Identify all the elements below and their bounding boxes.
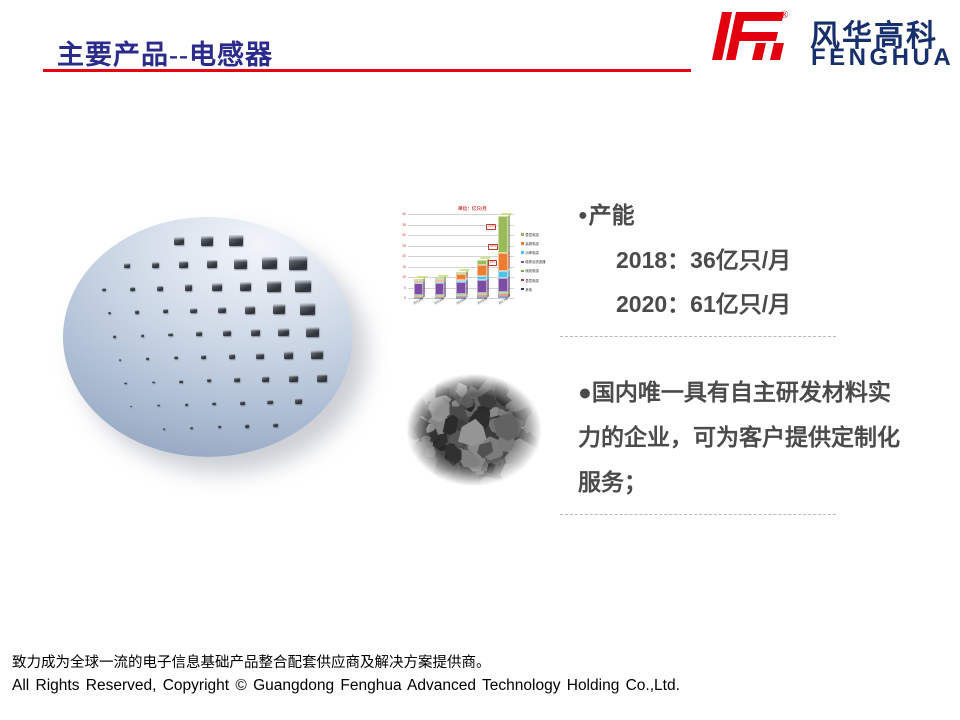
- chart-legend-swatch: [521, 270, 524, 273]
- chip-inductor: [284, 351, 294, 359]
- chip-inductor: [163, 309, 169, 313]
- chip-inductor: [130, 287, 135, 291]
- chart-bar-segment: [498, 253, 508, 270]
- sem-disc: [404, 372, 544, 488]
- chip-inductor: [157, 404, 160, 406]
- chart-legend-swatch: [521, 288, 524, 291]
- chart-bar-segment-side: [508, 251, 510, 270]
- chart-bar-segment: [456, 272, 466, 275]
- chart-bar-segment: [456, 282, 466, 294]
- chart-legend: 叠层电感高频电感功率电感磁珠及滤波器绕线电感叠层电感其他: [521, 230, 567, 294]
- chart-y-tick-label: 30: [398, 233, 406, 237]
- chart-y-tick-label: 35: [398, 223, 406, 227]
- chart-bar-segment-side: [508, 276, 510, 292]
- bullet-dot-icon: ●: [578, 207, 588, 224]
- chart-bar-segment: [456, 274, 466, 279]
- footer-copyright-english: All Rights Reserved, Copyright © Guangdo…: [12, 674, 942, 697]
- chip-inductor: [240, 401, 245, 405]
- chart-legend-swatch: [521, 242, 524, 245]
- divider-bottom: [560, 514, 836, 515]
- chart-bar-segment-side: [508, 214, 510, 254]
- chart-bar-top-cap: [416, 276, 428, 278]
- chip-inductor: [163, 428, 166, 430]
- chip-inductor: [135, 310, 139, 313]
- chip-inductor: [300, 303, 315, 314]
- chip-inductor: [152, 262, 159, 268]
- registered-trademark-icon: ®: [780, 9, 788, 21]
- material-line-1-text: 国内唯一具有自主研发材料实: [592, 379, 891, 405]
- footer-slogan-chinese: 致力成为全球一流的电子信息基础产品整合配套供应商及解决方案提供商。: [12, 652, 942, 674]
- wafer-disc: [63, 217, 353, 457]
- chip-inductor: [124, 263, 130, 268]
- chip-inductor: [240, 282, 252, 291]
- chart-legend-swatch: [521, 279, 524, 282]
- chip-inductor: [245, 306, 255, 314]
- chart-bar-column: [498, 214, 508, 298]
- chip-inductor: [234, 259, 247, 269]
- chip-inductor: [196, 331, 202, 336]
- chip-inductor: [174, 237, 184, 245]
- chip-inductor: [218, 425, 222, 428]
- ferrite-sem-micrograph: [404, 372, 544, 488]
- chart-bar-column: [435, 214, 445, 298]
- chart-title: 单位：亿只/月: [458, 206, 487, 212]
- chip-inductor: [113, 335, 116, 338]
- chip-inductor: [185, 403, 188, 406]
- chart-bar-segment: [477, 265, 487, 276]
- page-title: 主要产品--电感器: [57, 33, 273, 72]
- chart-bar-segment: [456, 280, 466, 283]
- chart-legend-swatch: [521, 251, 524, 254]
- chart-legend-item: 叠层电感: [521, 230, 567, 239]
- chart-bar-segment: [414, 281, 424, 283]
- chip-inductor: [218, 307, 226, 314]
- slide-header: 主要产品--电感器 ® 风华高科 FENGHUA: [0, 0, 960, 80]
- chart-bar-segment: [435, 278, 445, 280]
- chip-inductor: [267, 400, 273, 405]
- chip-inductor: [229, 354, 236, 359]
- chip-inductor: [251, 329, 260, 336]
- chip-inductor: [289, 375, 298, 382]
- fenghua-monogram-icon: [692, 10, 788, 62]
- capacity-bar-chart: 单位：亿只/月 05101520253035402013年2014年2015年2…: [392, 203, 568, 328]
- chart-bar-segment: [414, 283, 424, 295]
- chip-inductor: [152, 381, 155, 383]
- bullet-block-material: ●国内唯一具有自主研发材料实 力的企业，可为客户提供定制化 服务；: [578, 370, 868, 505]
- chip-inductor: [207, 260, 218, 268]
- chart-bar-segment: [498, 278, 508, 292]
- chart-y-tick-label: 20: [398, 254, 406, 258]
- chip-inductor: [289, 256, 307, 270]
- slide-canvas: 主要产品--电感器 ® 风华高科 FENGHUA 单位：亿只/月 0510152…: [0, 0, 960, 720]
- capacity-row-2020: 2020：61亿只/月: [578, 282, 938, 326]
- chart-legend-label: 高频电感: [525, 241, 539, 246]
- chart-legend-label: 功率电感: [525, 250, 539, 255]
- chip-inductor: [262, 257, 277, 269]
- chip-inductor-disc-photo: [55, 213, 375, 465]
- chart-legend-label: 叠层电感: [525, 232, 539, 237]
- chip-inductor: [311, 350, 323, 359]
- logo-english-name: FENGHUA: [811, 44, 954, 72]
- chart-y-tick-label: 5: [398, 286, 406, 290]
- chart-legend-item: 高频电感: [521, 239, 567, 248]
- chart-y-tick-label: 25: [398, 244, 406, 248]
- chart-legend-swatch: [521, 233, 524, 236]
- chip-inductor: [306, 327, 319, 337]
- chart-legend-item: 磁珠及滤波器: [521, 257, 567, 266]
- chart-y-tick-label: 10: [398, 275, 406, 279]
- chart-callout: 54%: [488, 244, 498, 250]
- chip-inductor: [273, 423, 279, 427]
- chip-inductor: [223, 330, 231, 336]
- chart-legend-item: 其他: [521, 285, 567, 294]
- chip-inductor: [130, 406, 133, 408]
- chart-bar-segment: [435, 280, 445, 282]
- chip-inductor: [256, 353, 264, 359]
- chip-inductor: [267, 281, 281, 292]
- chart-bar-segment: [498, 292, 508, 294]
- bullet-block-capacity: ●产能 2018：36亿只/月 2020：61亿只/月: [578, 193, 938, 326]
- bullet-dot-icon: ●: [578, 379, 592, 405]
- chip-inductor: [179, 380, 183, 383]
- chip-inductor: [108, 312, 112, 315]
- company-logo: ® 风华高科 FENGHUA: [692, 8, 944, 70]
- chart-bar-segment: [498, 271, 508, 278]
- chip-inductor: [278, 328, 289, 337]
- chip-inductor: [185, 284, 193, 290]
- chart-bar-column: [456, 214, 466, 298]
- chip-inductor: [295, 280, 311, 293]
- material-line-2: 力的企业，可为客户提供定制化: [578, 415, 868, 460]
- bullet-capacity-heading-text: 产能: [589, 202, 635, 228]
- chart-callout: 8%: [488, 260, 497, 266]
- chip-inductor: [212, 283, 222, 290]
- chip-inductor: [179, 261, 188, 268]
- chart-legend-label: 其他: [525, 287, 532, 292]
- chart-legend-swatch: [521, 261, 524, 264]
- chip-inductor: [317, 374, 328, 382]
- chart-bar-column: [414, 214, 424, 298]
- chip-inductor: [124, 382, 127, 384]
- chip-inductor: [207, 378, 212, 382]
- chart-y-tick-label: 15: [398, 265, 406, 269]
- chip-inductor: [273, 304, 285, 314]
- chart-legend-item: 绕线电感: [521, 266, 567, 275]
- chip-inductor: [146, 357, 149, 360]
- chip-inductor: [174, 356, 178, 359]
- chip-inductor: [262, 376, 269, 382]
- chart-bar-segment: [414, 279, 424, 281]
- chip-inductor: [212, 402, 216, 405]
- chip-inductor: [141, 334, 145, 337]
- slide-footer: 致力成为全球一流的电子信息基础产品整合配套供应商及解决方案提供商。 All Ri…: [12, 652, 942, 697]
- title-underline-rule: [43, 69, 691, 72]
- material-line-1: ●国内唯一具有自主研发材料实: [578, 370, 868, 415]
- chart-legend-item: 功率电感: [521, 248, 567, 257]
- chart-y-tick-label: 0: [398, 296, 406, 300]
- material-line-3: 服务；: [578, 460, 868, 505]
- chip-inductor: [190, 308, 197, 313]
- chip-inductor: [168, 333, 173, 337]
- divider-top: [560, 336, 836, 337]
- chip-inductor: [119, 359, 122, 361]
- chart-bar-segment: [477, 276, 487, 281]
- bullet-capacity-heading: ●产能: [578, 193, 938, 238]
- chart-bar-segment: [498, 216, 508, 254]
- chart-legend-label: 绕线电感: [525, 268, 539, 273]
- capacity-row-2018: 2018：36亿只/月: [578, 238, 938, 282]
- chip-inductor: [190, 427, 193, 429]
- chip-inductor: [157, 286, 163, 291]
- chip-inductor: [102, 288, 106, 291]
- chip-inductor: [201, 236, 213, 245]
- chart-legend-label: 磁珠及滤波器: [525, 259, 545, 264]
- chip-inductor: [229, 235, 243, 246]
- chip-inductor: [245, 424, 249, 427]
- chart-callout: 22%: [486, 224, 496, 230]
- chart-legend-item: 叠层电感: [521, 275, 567, 284]
- chart-plot-area: 05101520253035402013年2014年2015年2016年2017…: [408, 214, 514, 298]
- chart-bar-segment: [477, 260, 487, 265]
- chip-inductor: [295, 398, 303, 404]
- chart-bar-segment: [435, 283, 445, 295]
- chart-y-tick-label: 40: [398, 212, 406, 216]
- chart-bar-segment: [477, 280, 487, 293]
- chip-inductor: [234, 377, 240, 382]
- chart-legend-label: 叠层电感: [525, 278, 539, 283]
- chip-inductor: [201, 355, 206, 359]
